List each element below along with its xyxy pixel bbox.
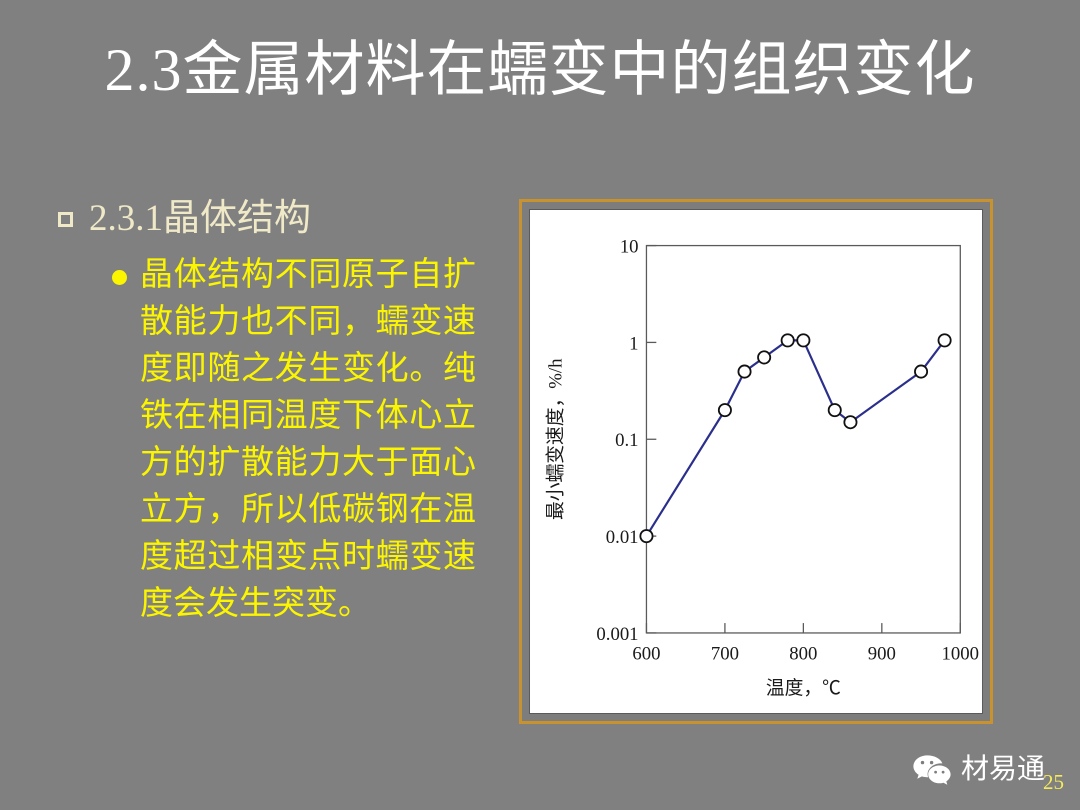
creep-rate-vs-temperature-chart: 10 1 0.1 0.01 0.001 600 700 800 900 1000… — [530, 210, 982, 713]
data-point-marker — [797, 334, 809, 346]
section-heading-label: 2.3.1晶体结构 — [89, 196, 311, 242]
data-point-marker — [938, 334, 950, 346]
page-number-label: 25 — [1043, 770, 1064, 795]
footer-brand: 材易通 — [912, 754, 1045, 786]
data-point-marker — [738, 365, 750, 377]
x-tick-label-900: 900 — [868, 644, 896, 665]
page-title: 2.3金属材料在蠕变中的组织变化 — [0, 34, 1080, 106]
y-tick-label-10: 10 — [620, 236, 639, 257]
x-tick-label-700: 700 — [711, 644, 739, 665]
x-axis-title: 温度，℃ — [766, 677, 841, 699]
data-line — [646, 340, 944, 536]
y-tick-label-0.01: 0.01 — [606, 527, 639, 548]
square-bullet-icon — [58, 212, 73, 227]
round-bullet-icon — [112, 270, 127, 285]
data-point-marker — [915, 365, 927, 377]
data-point-marker — [719, 404, 731, 416]
data-point-marker — [640, 530, 652, 542]
figure-inner: 10 1 0.1 0.01 0.001 600 700 800 900 1000… — [529, 209, 983, 714]
body-paragraph-text: 晶体结构不同原子自扩散能力也不同，蠕变速度即随之发生变化。纯铁在相同温度下体心立… — [140, 252, 476, 628]
x-axis-ticks — [646, 623, 960, 633]
y-tick-label-0.1: 0.1 — [615, 430, 638, 451]
y-tick-label-0.001: 0.001 — [596, 624, 638, 645]
figure-frame: 10 1 0.1 0.01 0.001 600 700 800 900 1000… — [519, 199, 993, 724]
section-heading-row: 2.3.1晶体结构 — [58, 196, 508, 242]
data-point-marker — [782, 334, 794, 346]
x-tick-label-800: 800 — [789, 644, 817, 665]
x-tick-label-1000: 1000 — [942, 644, 979, 665]
data-point-marker — [758, 351, 770, 363]
wechat-icon — [912, 754, 952, 786]
data-point-marker — [844, 416, 856, 428]
x-tick-label-600: 600 — [632, 644, 660, 665]
y-tick-label-1: 1 — [629, 333, 638, 354]
plot-frame — [646, 246, 960, 633]
brand-name-label: 材易通 — [961, 754, 1045, 786]
data-point-marker — [829, 404, 841, 416]
y-axis-ticks — [646, 246, 656, 633]
data-markers — [640, 334, 950, 542]
body-paragraph-row: 晶体结构不同原子自扩散能力也不同，蠕变速度即随之发生变化。纯铁在相同温度下体心立… — [112, 252, 508, 628]
content-column: 2.3.1晶体结构 晶体结构不同原子自扩散能力也不同，蠕变速度即随之发生变化。纯… — [58, 196, 508, 628]
y-axis-title: 最小蠕变速度，%/h — [545, 358, 567, 520]
